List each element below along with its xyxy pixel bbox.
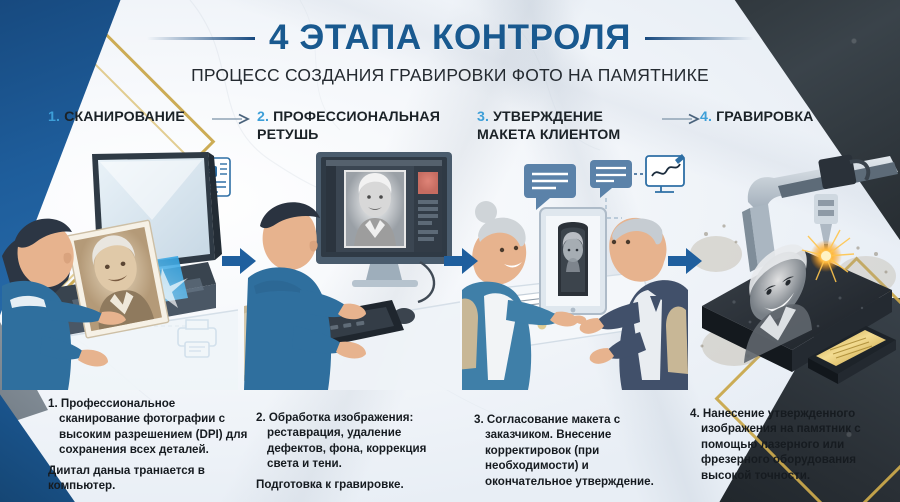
page-title: 4 ЭТАПА КОНТРОЛЯ (269, 18, 631, 58)
step-header-4: 4. ГРАВИРОВКА (700, 108, 814, 126)
scene-arrow-1 (222, 248, 256, 274)
caption-4-line-1: 4. Нанесение утвержденного изображения н… (690, 406, 890, 483)
caption-2-line-1: 2. Обработка изображения: реставрация, у… (256, 410, 461, 472)
caption-3: 3. Согласование макета с заказчиком. Вне… (474, 412, 672, 489)
caption-1-line-2: Диитал даныа транıается в компьютер. (48, 463, 253, 494)
step-header-row: 1. СКАНИРОВАНИЕ 2. ПРОФЕССИОНАЛЬНАЯ РЕТУ… (0, 104, 900, 146)
caption-2: 2. Обработка изображения: реставрация, у… (256, 410, 461, 492)
step-label-2: ПРОФЕССИОНАЛЬНАЯ РЕТУШЬ (257, 109, 440, 143)
step-number-1: 1. (48, 109, 60, 125)
scene-3-approval (462, 150, 688, 390)
poster-header: 4 ЭТАПА КОНТРОЛЯ ПРОЦЕСС СОЗДАНИЯ ГРАВИР… (0, 18, 900, 86)
step-label-3: УТВЕРЖДЕНИЕ МАКЕТА КЛИЕНТОМ (477, 109, 620, 143)
step-label-4: ГРАВИРОВКА (716, 109, 813, 125)
page-subtitle: ПРОЦЕСС СОЗДАНИЯ ГРАВИРОВКИ ФОТО НА ПАМЯ… (0, 65, 900, 86)
caption-2-line-2: Подготовка к гравировке. (256, 477, 461, 492)
monitor (316, 152, 452, 302)
title-rule-left (147, 37, 255, 40)
caption-row: 1. Профессиональное сканирование фотогра… (0, 390, 900, 502)
caption-1: 1. Профессиональное сканирование фотогра… (48, 396, 253, 493)
header-arrow-1 (212, 113, 252, 125)
caption-3-line-1: 3. Согласование макета с заказчиком. Вне… (474, 412, 672, 489)
speech-bubble-icon-right (590, 160, 632, 198)
caption-4: 4. Нанесение утвержденного изображения н… (690, 406, 890, 483)
header-arrow-3 (662, 113, 702, 125)
scene-arrow-3 (668, 248, 702, 274)
step-number-2: 2. (257, 109, 269, 125)
title-row: 4 ЭТАПА КОНТРОЛЯ (0, 18, 900, 58)
scene-arrow-2 (444, 248, 478, 274)
caption-1-line-1: 1. Профессиональное сканирование фотогра… (48, 396, 253, 458)
tablet-preview (540, 208, 606, 314)
step-header-2: 2. ПРОФЕССИОНАЛЬНАЯ РЕТУШЬ (257, 108, 447, 144)
scene-2-retouch (244, 150, 460, 390)
infographic-poster: 4 ЭТАПА КОНТРОЛЯ ПРОЦЕСС СОЗДАНИЯ ГРАВИР… (0, 0, 900, 502)
portrait-on-screen (346, 172, 404, 246)
title-rule-right (645, 37, 753, 40)
step-header-1: 1. СКАНИРОВАНИЕ (48, 108, 185, 126)
scene-4-engraving (690, 150, 900, 390)
step-number-3: 3. (477, 109, 489, 125)
speech-bubble-icon-left (524, 164, 576, 210)
signature-monitor-icon (646, 154, 685, 192)
chair-left (462, 299, 478, 370)
step-number-4: 4. (700, 109, 712, 125)
step-label-1: СКАНИРОВАНИЕ (64, 109, 185, 125)
step-header-3: 3. УТВЕРЖДЕНИЕ МАКЕТА КЛИЕНТОМ (477, 108, 657, 144)
scene-1-scanning: DPI (2, 150, 238, 390)
chair-right (666, 307, 688, 374)
